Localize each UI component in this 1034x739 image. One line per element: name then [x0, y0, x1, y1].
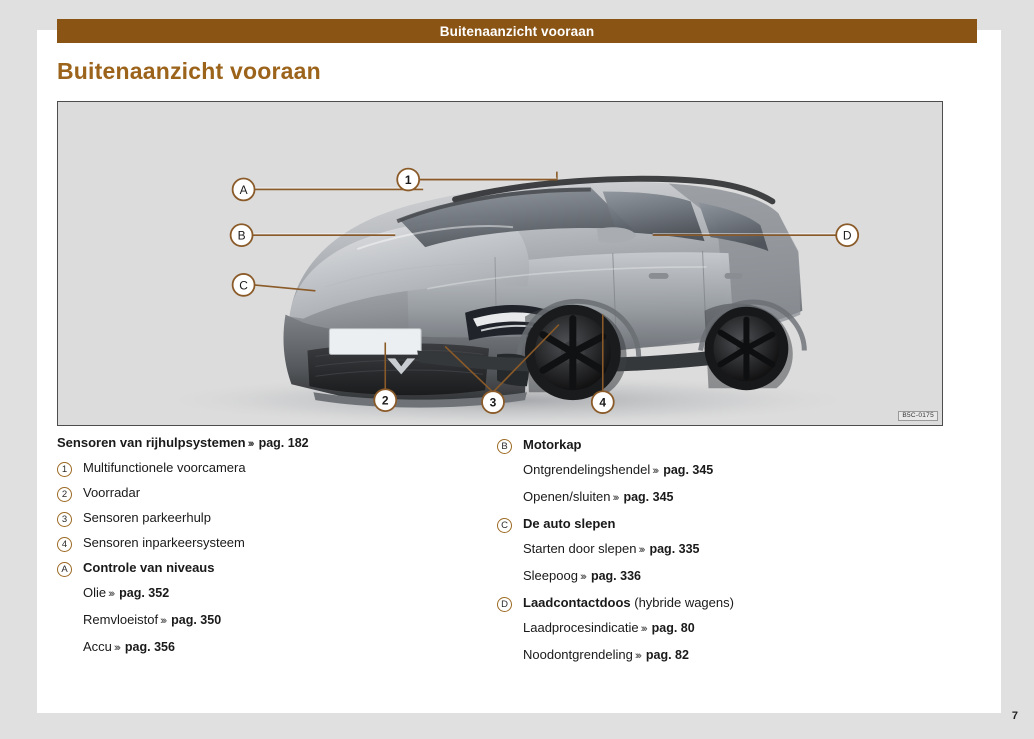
- legend-column-right: BMotorkapOntgrendelingshendel›››pag. 345…: [497, 435, 927, 672]
- callout-4: 4: [592, 391, 614, 413]
- legend-subitem: Noodontgrendeling›››pag. 82: [497, 645, 927, 668]
- page-reference[interactable]: pag. 335: [644, 542, 699, 556]
- legend-item-text: Sleepoog›››pag. 336: [523, 566, 641, 587]
- legend-item-label: Laadcontactdoos: [523, 595, 631, 610]
- legend-bullet-slot: [497, 487, 523, 488]
- page-reference[interactable]: pag. 352: [114, 586, 169, 600]
- page-reference[interactable]: pag. 356: [120, 640, 175, 654]
- page-folio: 7: [1012, 710, 1018, 722]
- legend-item-suffix: (hybride wagens): [631, 595, 734, 610]
- reference-marker-a: A: [57, 562, 72, 577]
- page-reference[interactable]: pag. 350: [166, 613, 221, 627]
- legend-item-label: Controle van niveaus: [83, 560, 214, 575]
- page-reference[interactable]: pag. 182: [254, 436, 309, 450]
- chevron-icon: ›››: [633, 650, 641, 662]
- legend-bullet-slot: [57, 583, 83, 584]
- svg-text:1: 1: [405, 173, 412, 187]
- callout-2: 2: [374, 389, 396, 411]
- chevron-icon: ›››: [578, 571, 586, 583]
- svg-text:3: 3: [490, 396, 497, 410]
- callout-D: D: [836, 224, 858, 246]
- legend-bullet-slot: [497, 645, 523, 646]
- chevron-icon: ›››: [158, 615, 166, 627]
- reference-marker-1: 1: [57, 462, 72, 477]
- page-root: Buitenaanzicht vooraan Buitenaanzicht vo…: [0, 0, 1034, 739]
- legend-item-text: Starten door slepen›››pag. 335: [523, 539, 700, 560]
- legend-item-text: Sensoren inparkeersysteem: [83, 533, 245, 553]
- legend-bullet-slot: [497, 618, 523, 619]
- page-reference[interactable]: pag. 80: [647, 621, 695, 635]
- legend-item: DLaadcontactdoos (hybride wagens): [497, 593, 927, 616]
- legend-item-label: Accu: [83, 639, 112, 654]
- legend-item: AControle van niveaus: [57, 558, 487, 581]
- reference-marker-4: 4: [57, 537, 72, 552]
- reference-marker-b: B: [497, 439, 512, 454]
- reference-marker-d: D: [497, 597, 512, 612]
- legend-bullet-slot: C: [497, 514, 523, 533]
- legend-bullet-slot: 4: [57, 533, 83, 552]
- svg-text:D: D: [843, 229, 852, 243]
- legend-bullet-slot: 1: [57, 458, 83, 477]
- legend-item: 3Sensoren parkeerhulp: [57, 508, 487, 531]
- legend-subitem: Starten door slepen›››pag. 335: [497, 539, 927, 562]
- legend-item-text: Ontgrendelingshendel›››pag. 345: [523, 460, 713, 481]
- legend-item-text: Openen/sluiten›››pag. 345: [523, 487, 673, 508]
- legend-bullet-slot: A: [57, 558, 83, 577]
- page-reference[interactable]: pag. 345: [658, 463, 713, 477]
- legend-bullet-slot: [497, 460, 523, 461]
- reference-marker-c: C: [497, 518, 512, 533]
- svg-text:4: 4: [599, 396, 606, 410]
- svg-text:A: A: [240, 183, 248, 197]
- car-illustration-svg: 1 2 3 4 A B C: [58, 102, 942, 425]
- reference-marker-2: 2: [57, 487, 72, 502]
- legend-bullet-slot: D: [497, 593, 523, 612]
- running-header-bar: Buitenaanzicht vooraan: [57, 19, 977, 43]
- svg-text:B: B: [238, 229, 246, 243]
- callout-1: 1: [397, 169, 419, 191]
- callout-C: C: [233, 274, 255, 296]
- legend-item-text: Accu›››pag. 356: [83, 637, 175, 658]
- legend-item-text: Noodontgrendeling›››pag. 82: [523, 645, 689, 666]
- page-reference[interactable]: pag. 82: [641, 648, 689, 662]
- legend-item-text: Sensoren parkeerhulp: [83, 508, 211, 528]
- svg-text:C: C: [239, 278, 248, 292]
- page-reference[interactable]: pag. 336: [586, 569, 641, 583]
- legend-item: CDe auto slepen: [497, 514, 927, 537]
- page-title: Buitenaanzicht vooraan: [57, 58, 321, 85]
- legend-subitem: Olie›››pag. 352: [57, 583, 487, 606]
- callout-B: B: [231, 224, 253, 246]
- legend-bullet-slot: 3: [57, 508, 83, 527]
- chevron-icon: ›››: [112, 642, 120, 654]
- legend-item-label: Openen/sluiten: [523, 489, 610, 504]
- legend-item-text: Voorradar: [83, 483, 140, 503]
- legend-item-text: Olie›››pag. 352: [83, 583, 169, 604]
- legend-block: Sensoren van rijhulpsystemen›››pag. 182 …: [57, 435, 943, 672]
- legend-item-text: Laadprocesindicatie›››pag. 80: [523, 618, 695, 639]
- legend-item-label: Starten door slepen: [523, 541, 636, 556]
- legend-item-label: Sensoren parkeerhulp: [83, 510, 211, 525]
- callout-A: A: [233, 179, 255, 201]
- legend-bullet-slot: [497, 566, 523, 567]
- chevron-icon: ›››: [246, 438, 254, 450]
- legend-subitem: Ontgrendelingshendel›››pag. 345: [497, 460, 927, 483]
- legend-item-text: Laadcontactdoos (hybride wagens): [523, 593, 734, 613]
- legend-bullet-slot: B: [497, 435, 523, 454]
- legend-item-text: De auto slepen: [523, 514, 615, 534]
- legend-item: BMotorkap: [497, 435, 927, 458]
- page-reference[interactable]: pag. 345: [618, 490, 673, 504]
- legend-item-label: De auto slepen: [523, 516, 615, 531]
- legend-item-text: Controle van niveaus: [83, 558, 214, 578]
- legend-bullet-slot: [57, 637, 83, 638]
- legend-subitem: Laadprocesindicatie›››pag. 80: [497, 618, 927, 641]
- legend-item-text: Multifunctionele voorcamera: [83, 458, 246, 478]
- legend-subitem: Remvloeistof›››pag. 350: [57, 610, 487, 633]
- chevron-icon: ›››: [106, 588, 114, 600]
- legend-item-label: Sensoren inparkeersysteem: [83, 535, 245, 550]
- chevron-icon: ›››: [639, 623, 647, 635]
- legend-item-label: Sleepoog: [523, 568, 578, 583]
- legend-bullet-slot: [57, 610, 83, 611]
- legend-item-label: Olie: [83, 585, 106, 600]
- legend-item-text: Remvloeistof›››pag. 350: [83, 610, 221, 631]
- legend-item: 2Voorradar: [57, 483, 487, 506]
- legend-column-left: Sensoren van rijhulpsystemen›››pag. 182 …: [57, 435, 487, 672]
- reference-marker-3: 3: [57, 512, 72, 527]
- legend-item-label: Motorkap: [523, 437, 582, 452]
- legend-item-label: Remvloeistof: [83, 612, 158, 627]
- legend-item-label: Laadprocesindicatie: [523, 620, 639, 635]
- legend-subitem: Sleepoog›››pag. 336: [497, 566, 927, 589]
- callout-3: 3: [482, 391, 504, 413]
- legend-bullet-slot: 2: [57, 483, 83, 502]
- figure-illustration: 1 2 3 4 A B C: [57, 101, 943, 426]
- legend-item-text: Motorkap: [523, 435, 582, 455]
- svg-text:2: 2: [382, 394, 389, 408]
- figure-reference-code: B5C-0175: [898, 411, 938, 422]
- legend-heading-text: Sensoren van rijhulpsystemen: [57, 435, 246, 450]
- legend-item-label: Multifunctionele voorcamera: [83, 460, 246, 475]
- legend-item: 4Sensoren inparkeersysteem: [57, 533, 487, 556]
- running-header-title: Buitenaanzicht vooraan: [440, 24, 594, 39]
- legend-item-label: Voorradar: [83, 485, 140, 500]
- legend-bullet-slot: [497, 539, 523, 540]
- legend-item: 1Multifunctionele voorcamera: [57, 458, 487, 481]
- legend-item-label: Ontgrendelingshendel: [523, 462, 650, 477]
- legend-subitem: Openen/sluiten›››pag. 345: [497, 487, 927, 510]
- legend-heading: Sensoren van rijhulpsystemen›››pag. 182: [57, 435, 487, 450]
- legend-subitem: Accu›››pag. 356: [57, 637, 487, 660]
- legend-item-label: Noodontgrendeling: [523, 647, 633, 662]
